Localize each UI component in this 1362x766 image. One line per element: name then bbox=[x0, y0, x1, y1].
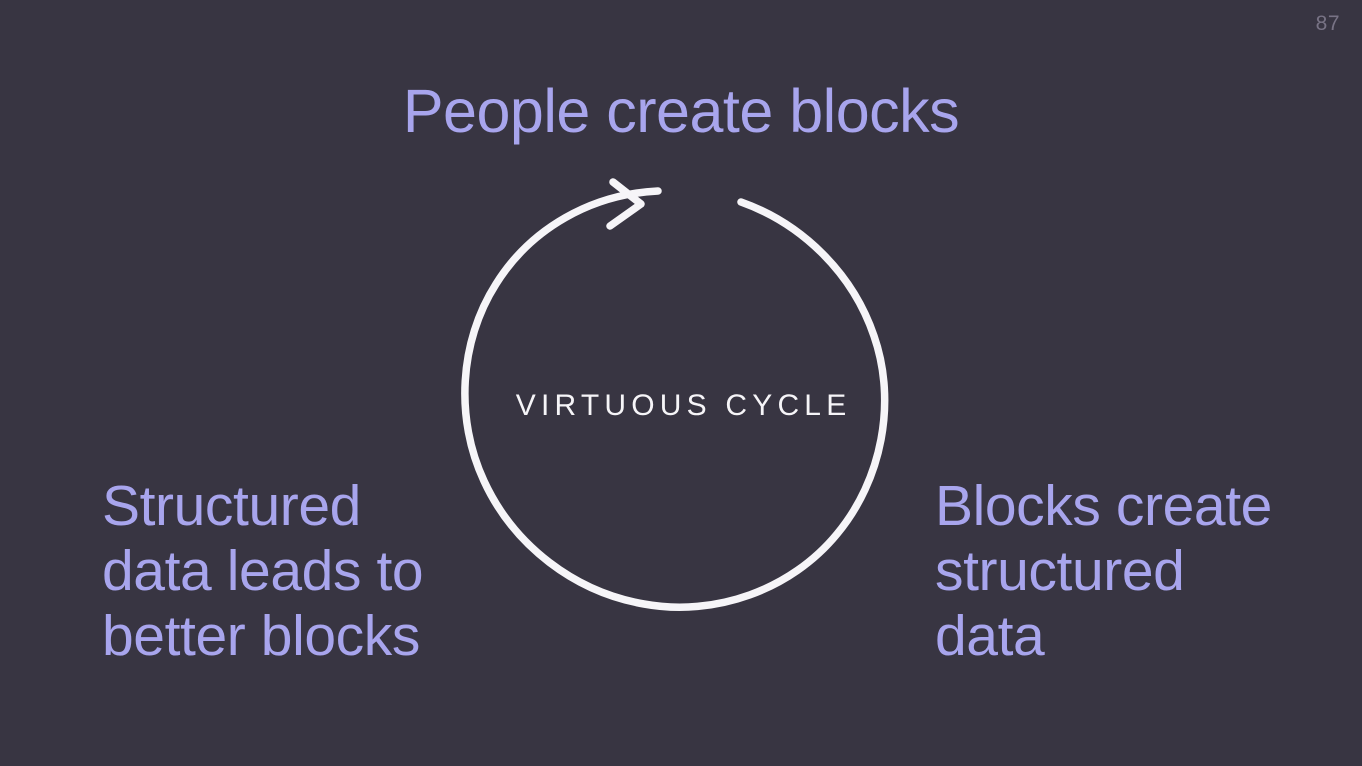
cycle-arrow-icon bbox=[447, 172, 915, 640]
cycle-step-top-label: People create blocks bbox=[0, 79, 1362, 144]
slide-canvas: 87 People create blocks VIRTUOUS CYCLE S… bbox=[0, 0, 1362, 766]
page-number: 87 bbox=[1316, 13, 1340, 34]
cycle-step-right-label: Blocks create structured data bbox=[935, 474, 1272, 669]
cycle-step-left-label: Structured data leads to better blocks bbox=[102, 474, 423, 669]
virtuous-cycle-diagram: VIRTUOUS CYCLE bbox=[447, 172, 915, 640]
